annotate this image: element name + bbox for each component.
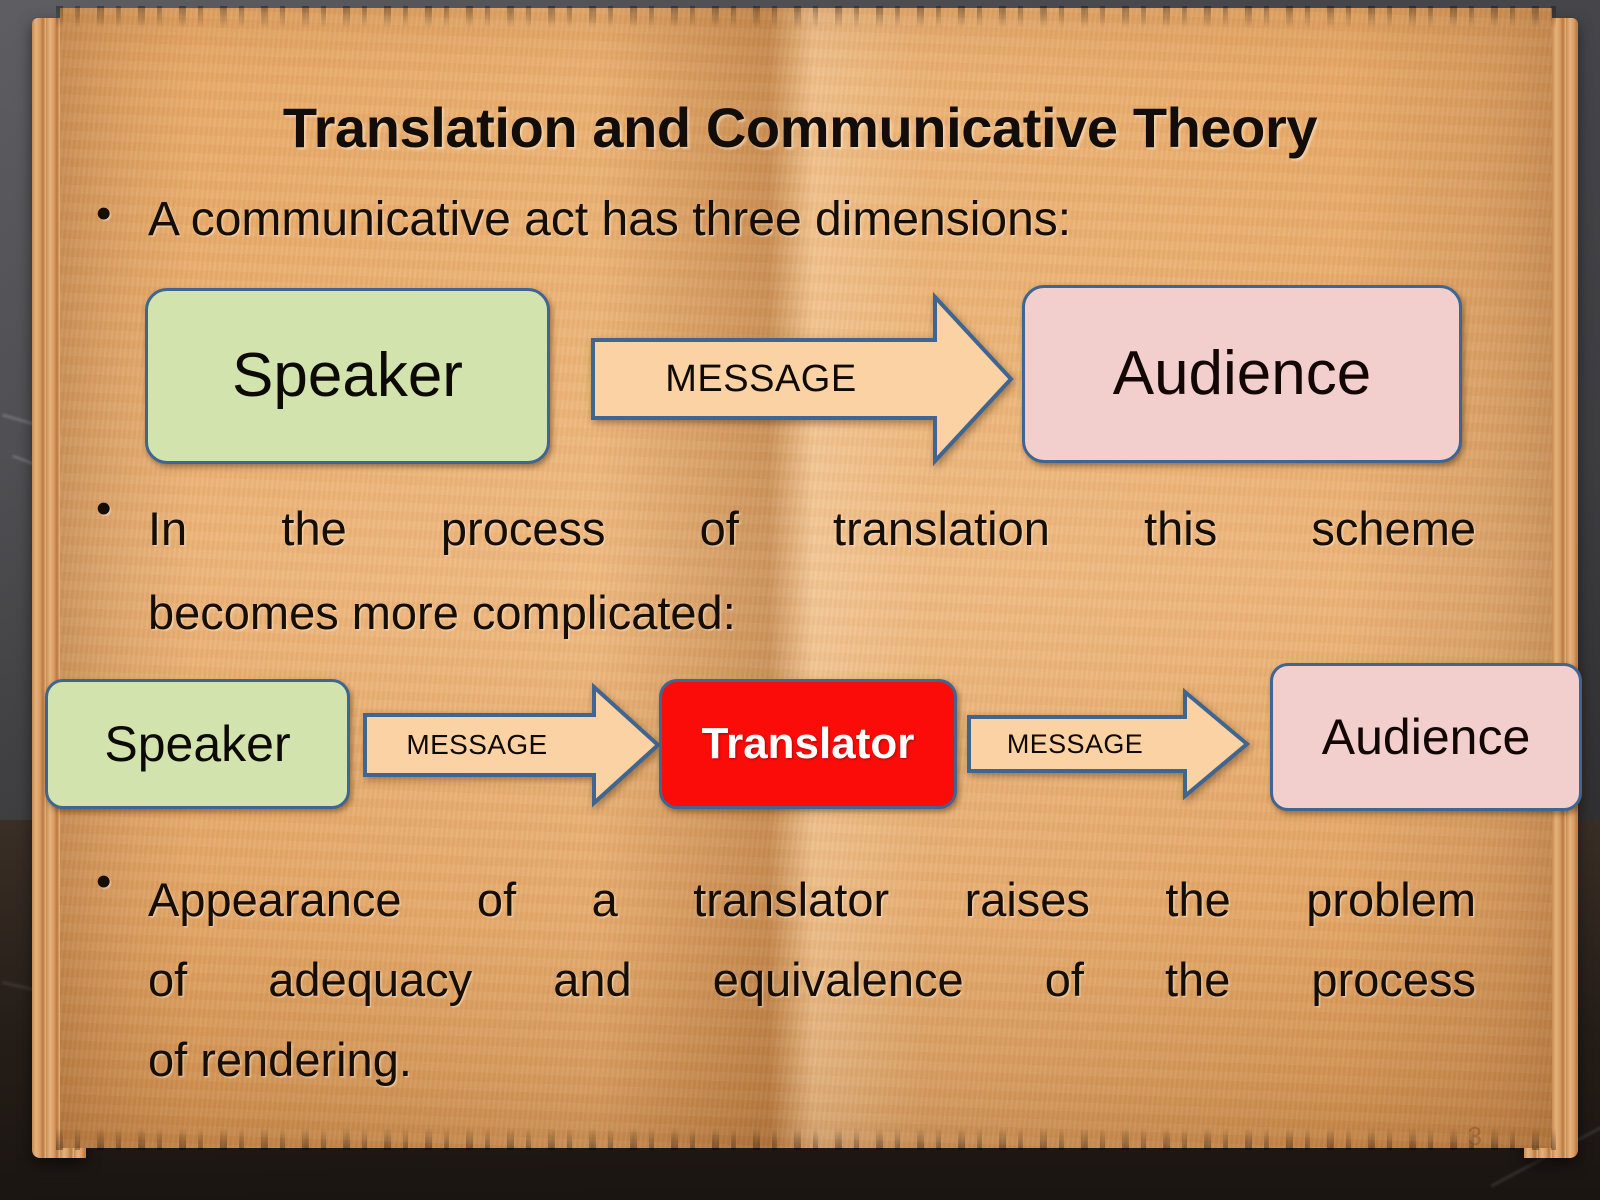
slide-number: 3 — [1468, 1121, 1482, 1152]
bullet-text-3-line-3: of rendering. — [148, 1020, 1476, 1100]
page-title: Translation and Communicative Theory — [155, 95, 1445, 160]
arrow-right-icon — [590, 290, 1015, 468]
arrow-message-simple[interactable]: MESSAGE — [590, 290, 1015, 468]
bullet-marker-icon: • — [96, 860, 148, 1100]
bullet-marker-icon: • — [96, 192, 148, 247]
node-translator[interactable]: Translator — [659, 679, 957, 809]
node-speaker-simple[interactable]: Speaker — [145, 288, 550, 464]
bullet-item-1: • A communicative act has three dimensio… — [96, 192, 1456, 247]
slide-canvas: Translation and Communicative Theory • A… — [0, 0, 1600, 1200]
arrow-message-to-audience[interactable]: MESSAGE — [966, 688, 1251, 800]
node-audience-simple[interactable]: Audience — [1022, 285, 1462, 463]
arrow-right-icon — [966, 688, 1251, 800]
bullet-item-3: • Appearance of a translator raises the … — [96, 860, 1476, 1100]
bullet-item-2: • In the process of translation this sch… — [96, 487, 1476, 654]
bullet-text-2-line-1: In the process of translation this schem… — [148, 487, 1476, 571]
node-audience-translation-label: Audience — [1322, 712, 1531, 762]
bullet-text-3-line-2: of adequacy and equivalence of the proce… — [148, 940, 1476, 1020]
bullet-text-2-line-2: becomes more complicated: — [148, 571, 1476, 655]
bullet-text-1: A communicative act has three dimensions… — [148, 192, 1456, 247]
node-audience-translation[interactable]: Audience — [1270, 663, 1582, 811]
arrow-right-icon — [362, 682, 662, 808]
bullet-text-3-line-1: Appearance of a translator raises the pr… — [148, 860, 1476, 940]
bullet-text-2: In the process of translation this schem… — [148, 487, 1476, 654]
node-speaker-translation[interactable]: Speaker — [45, 679, 350, 809]
node-speaker-simple-label: Speaker — [232, 345, 463, 407]
node-audience-simple-label: Audience — [1113, 343, 1372, 405]
slide-content: Translation and Communicative Theory • A… — [0, 0, 1600, 1200]
node-translator-label: Translator — [702, 722, 915, 766]
bullet-text-3: Appearance of a translator raises the pr… — [148, 860, 1476, 1100]
arrow-message-to-translator[interactable]: MESSAGE — [362, 682, 662, 808]
bullet-marker-icon: • — [96, 487, 148, 654]
node-speaker-translation-label: Speaker — [104, 719, 290, 769]
